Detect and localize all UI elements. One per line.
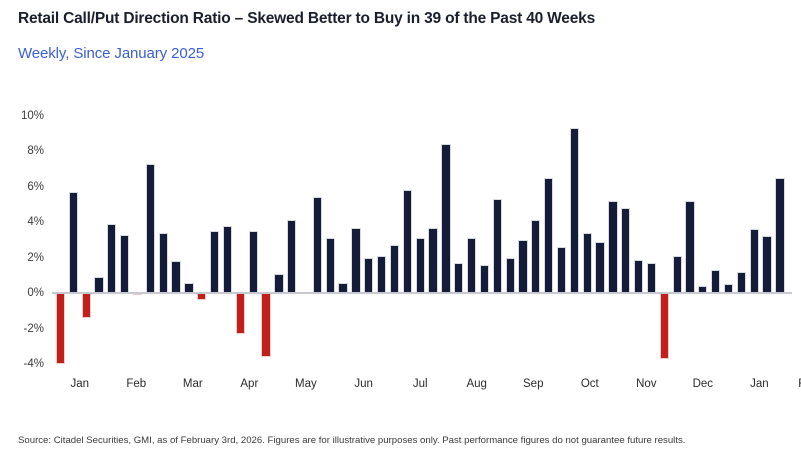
bar-week-19 <box>287 220 296 293</box>
bar-week-6 <box>120 235 129 294</box>
bar-week-28 <box>403 190 412 293</box>
bar-week-35 <box>493 199 502 293</box>
bar-week-57 <box>775 178 784 293</box>
x-axis-tick-12: Jan <box>750 378 769 390</box>
y-axis-tick-10: 10% <box>21 110 44 122</box>
source-note: Source: Citadel Securities, GMI, as of F… <box>18 435 685 446</box>
bar-week-56 <box>762 236 771 293</box>
x-axis-tick-3: Apr <box>240 378 258 390</box>
bar-week-21 <box>313 197 322 293</box>
bar-week-24 <box>351 228 360 294</box>
x-axis-tick-6: Jul <box>413 378 428 390</box>
bar-week-49 <box>673 256 682 293</box>
bar-week-16 <box>249 231 258 293</box>
bar-week-54 <box>737 272 746 293</box>
bar-week-5 <box>107 224 116 293</box>
bar-week-4 <box>94 277 103 293</box>
bar-week-3 <box>82 293 91 318</box>
bar-week-15 <box>236 293 245 334</box>
bar-week-45 <box>621 208 630 293</box>
bar-week-9 <box>159 233 168 293</box>
x-axis-tick-7: Aug <box>466 378 486 390</box>
bar-week-39 <box>544 178 553 293</box>
bar-week-26 <box>377 256 386 293</box>
bar-week-50 <box>685 201 694 293</box>
x-axis-tick-9: Oct <box>581 378 599 390</box>
x-axis-tick-5: Jun <box>354 378 373 390</box>
bar-week-48 <box>660 293 669 359</box>
page-title: Retail Call/Put Direction Ratio – Skewed… <box>18 10 595 28</box>
x-axis-tick-10: Nov <box>636 378 656 390</box>
bar-week-55 <box>750 229 759 293</box>
bar-week-12 <box>197 293 206 300</box>
chart-page: Retail Call/Put Direction Ratio – Skewed… <box>0 0 801 458</box>
bar-week-40 <box>557 247 566 293</box>
y-axis-tick-neg4: -4% <box>24 358 44 370</box>
zero-baseline <box>52 292 792 294</box>
bar-week-18 <box>274 274 283 294</box>
y-axis-tick-8: 8% <box>27 145 44 157</box>
bar-week-2 <box>69 192 78 293</box>
x-axis-tick-11: Dec <box>693 378 713 390</box>
bar-week-38 <box>531 220 540 293</box>
y-axis-tick-0: 0% <box>27 287 44 299</box>
bar-week-29 <box>416 238 425 293</box>
bar-week-44 <box>608 201 617 293</box>
bar-week-27 <box>390 245 399 293</box>
x-axis-tick-0: Jan <box>70 378 89 390</box>
x-axis-labels: JanFebMarAprMayJunJulAugSepOctNovDecJanF… <box>52 378 792 400</box>
y-axis-labels: 10%8%6%4%2%0%-2%-4% <box>0 105 48 375</box>
y-axis-tick-2: 2% <box>27 252 44 264</box>
bar-week-42 <box>583 233 592 293</box>
bar-week-33 <box>467 238 476 293</box>
bar-week-10 <box>171 261 180 293</box>
x-axis-tick-8: Sep <box>523 378 543 390</box>
bar-week-46 <box>634 260 643 294</box>
bar-week-25 <box>364 258 373 294</box>
x-axis-tick-2: Mar <box>183 378 203 390</box>
bar-week-47 <box>647 263 656 293</box>
bar-week-52 <box>711 270 720 293</box>
x-axis-tick-4: May <box>295 378 317 390</box>
bar-week-31 <box>441 144 450 293</box>
bar-week-13 <box>210 231 219 293</box>
y-axis-tick-4: 4% <box>27 216 44 228</box>
bar-week-17 <box>261 293 270 357</box>
y-axis-tick-neg2: -2% <box>24 323 44 335</box>
y-axis-tick-6: 6% <box>27 181 44 193</box>
bar-week-36 <box>506 258 515 294</box>
bar-week-30 <box>428 228 437 294</box>
bar-week-14 <box>223 226 232 294</box>
x-axis-tick-1: Feb <box>126 378 146 390</box>
bar-week-32 <box>454 263 463 293</box>
bar-week-34 <box>480 265 489 293</box>
bar-week-1 <box>56 293 65 364</box>
bar-week-41 <box>570 128 579 293</box>
bar-week-22 <box>326 238 335 293</box>
page-subtitle: Weekly, Since January 2025 <box>18 45 204 62</box>
bar-week-43 <box>595 242 604 294</box>
bar-week-37 <box>518 240 527 293</box>
bar-series <box>52 105 792 375</box>
plot-area <box>52 105 792 375</box>
bar-week-8 <box>146 164 155 294</box>
